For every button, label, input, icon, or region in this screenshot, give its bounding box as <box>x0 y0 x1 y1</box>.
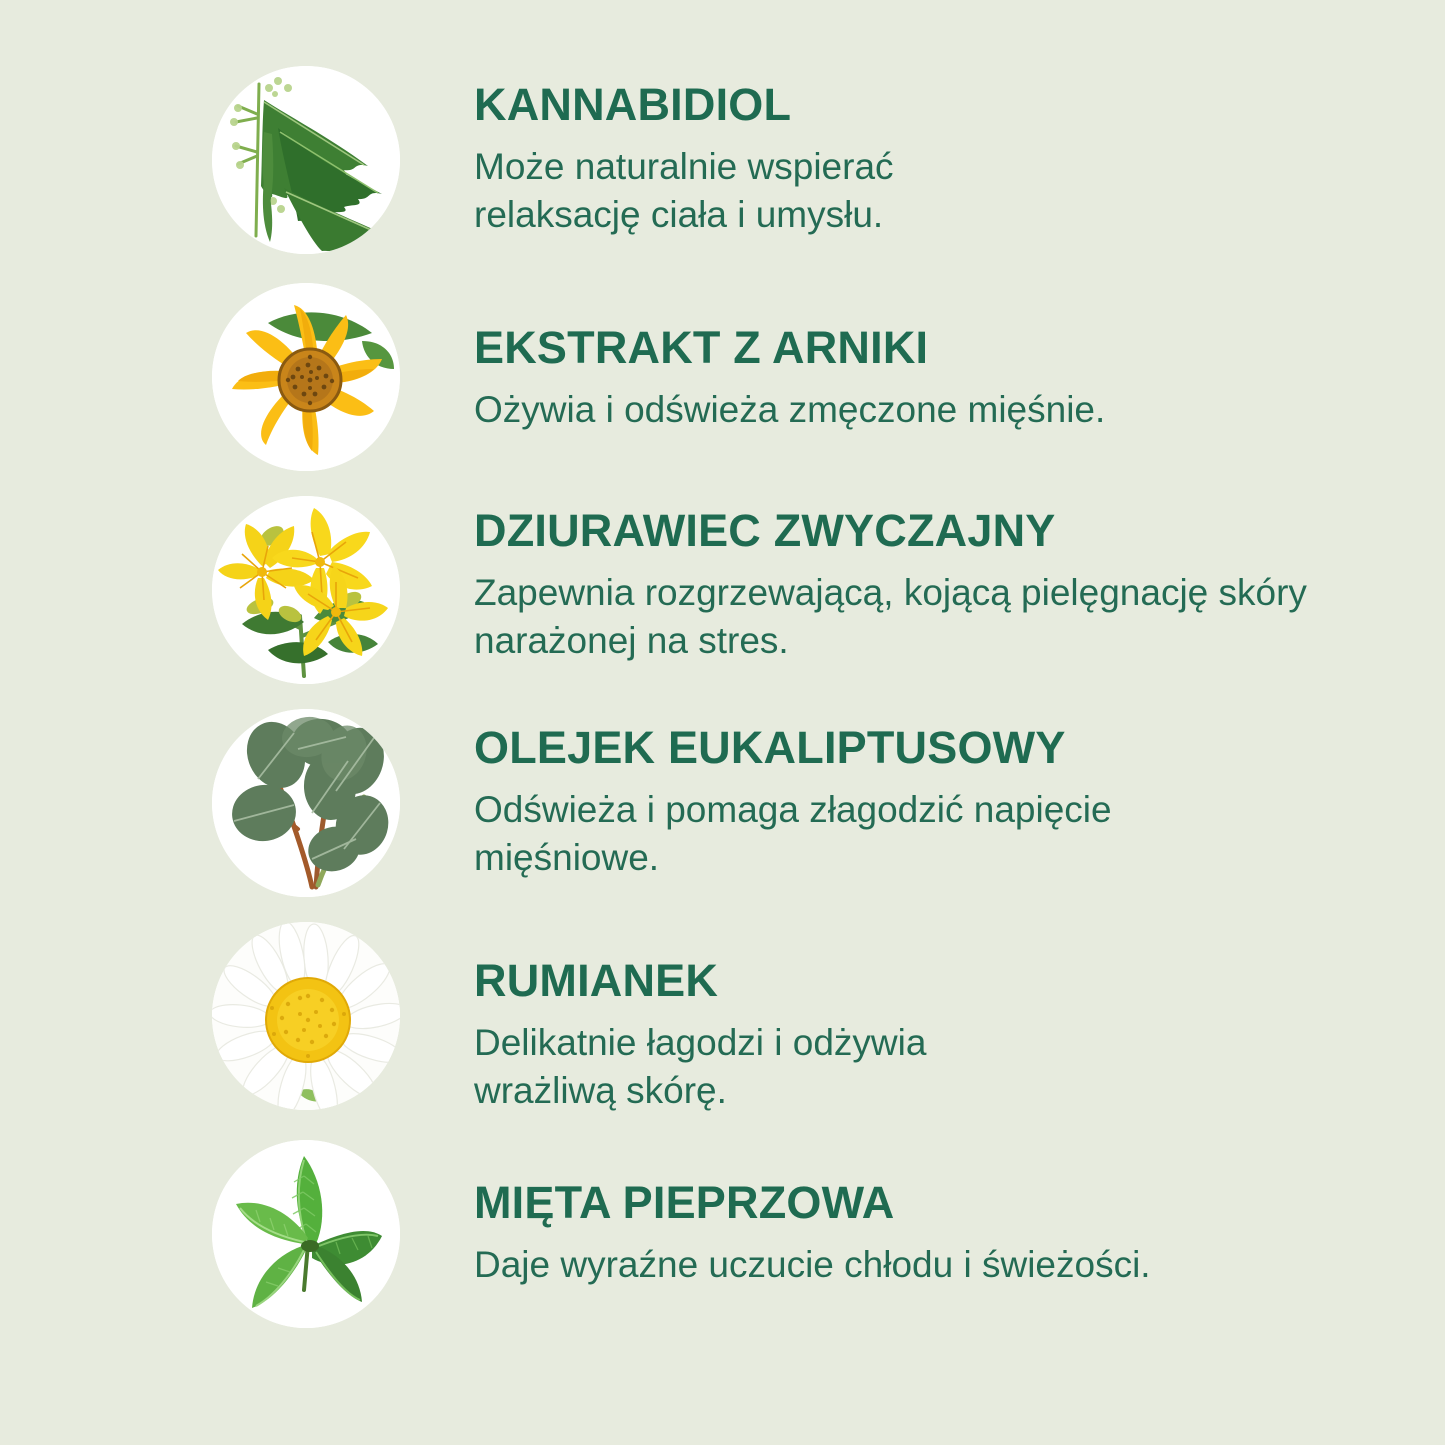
ingredient-title: OLEJEK EUKALIPTUSOWY <box>474 725 1405 770</box>
ingredient-row-mieta: MIĘTA PIEPRZOWA Daje wyraźne uczucie chł… <box>40 1140 1405 1328</box>
ingredient-text-kannabidiol: KANNABIDIOL Może naturalnie wspierać rel… <box>474 66 1405 239</box>
ingredient-row-kannabidiol: KANNABIDIOL Może naturalnie wspierać rel… <box>40 66 1405 254</box>
hemp-leaf-photo <box>212 66 400 254</box>
ingredient-title: DZIURAWIEC ZWYCZAJNY <box>474 508 1405 553</box>
ingredient-description: Może naturalnie wspierać relaksację ciał… <box>474 143 1034 239</box>
ingredient-description: Daje wyraźne uczucie chłodu i świeżości. <box>474 1241 1354 1289</box>
ingredient-text-eukaliptus: OLEJEK EUKALIPTUSOWY Odświeża i pomaga z… <box>474 709 1405 882</box>
ingredient-description: Ożywia i odświeża zmęczone mięśnie. <box>474 386 1354 434</box>
ingredient-row-rumianek: RUMIANEK Delikatnie łagodzi i odżywia wr… <box>40 922 1405 1115</box>
ingredient-title: EKSTRAKT Z ARNIKI <box>474 325 1405 370</box>
st-johns-wort-photo <box>212 496 400 684</box>
ingredient-description: Odświeża i pomaga złagodzić napięcie mię… <box>474 786 1114 882</box>
arnica-flower-photo <box>212 283 400 471</box>
ingredient-row-arnika: EKSTRAKT Z ARNIKI Ożywia i odświeża zmęc… <box>40 283 1405 471</box>
ingredient-text-arnika: EKSTRAKT Z ARNIKI Ożywia i odświeża zmęc… <box>474 283 1405 434</box>
ingredient-description: Delikatnie łagodzi i odżywia wrażliwą sk… <box>474 1019 994 1115</box>
ingredient-title: KANNABIDIOL <box>474 82 1405 127</box>
ingredient-text-dziurawiec: DZIURAWIEC ZWYCZAJNY Zapewnia rozgrzewaj… <box>474 496 1405 665</box>
chamomile-flower-photo <box>212 922 400 1110</box>
ingredient-row-dziurawiec: DZIURAWIEC ZWYCZAJNY Zapewnia rozgrzewaj… <box>40 496 1405 684</box>
ingredient-row-eukaliptus: OLEJEK EUKALIPTUSOWY Odświeża i pomaga z… <box>40 709 1405 897</box>
ingredient-description: Zapewnia rozgrzewającą, kojącą pielęgnac… <box>474 569 1354 665</box>
ingredient-title: MIĘTA PIEPRZOWA <box>474 1180 1405 1225</box>
ingredients-panel: KANNABIDIOL Może naturalnie wspierać rel… <box>0 0 1445 1445</box>
ingredient-text-mieta: MIĘTA PIEPRZOWA Daje wyraźne uczucie chł… <box>474 1140 1405 1289</box>
ingredient-title: RUMIANEK <box>474 958 1405 1003</box>
eucalyptus-leaves-photo <box>212 709 400 897</box>
ingredient-text-rumianek: RUMIANEK Delikatnie łagodzi i odżywia wr… <box>474 922 1405 1115</box>
peppermint-leaves-photo <box>212 1140 400 1328</box>
